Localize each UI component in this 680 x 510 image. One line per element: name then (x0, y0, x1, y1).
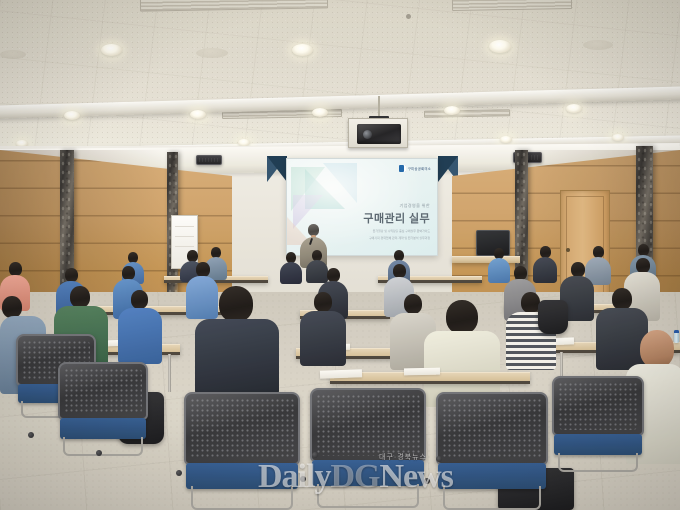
slide-eyebrow: 기업경영을 위한 (363, 203, 430, 209)
slide-body-line-2: 구매기획·협력업체 관리·계약 및 원가분석 실무과정 (363, 236, 430, 240)
chair-legs (558, 453, 639, 472)
attendee-head (612, 288, 632, 310)
downlight (292, 44, 313, 56)
chair-empty[interactable] (184, 392, 300, 510)
chair-legs (317, 484, 419, 508)
chair-empty[interactable] (58, 362, 148, 456)
table-edge (330, 381, 530, 384)
attendee (533, 246, 557, 282)
attendee-foreground (424, 300, 500, 404)
ceiling-projector (348, 118, 408, 148)
downlight (64, 111, 80, 120)
chair-back (310, 388, 426, 462)
attendee-head (327, 268, 340, 282)
attendee-head (404, 294, 422, 314)
attendee-head (70, 286, 90, 308)
chair-caster (28, 432, 34, 438)
attendee-head (393, 264, 406, 278)
slide-title: 구매관리 실무 (363, 210, 430, 226)
attendee-head (219, 286, 253, 322)
chair-occupied[interactable] (552, 376, 644, 472)
deco-triangle-left-dark (267, 156, 287, 182)
whiteboard-line (175, 236, 194, 237)
attendee-head (514, 266, 527, 280)
chair-seat (438, 463, 546, 489)
chair-legs (63, 437, 142, 456)
chair-caster (300, 476, 306, 482)
downlight (190, 110, 206, 119)
downlight (500, 136, 512, 143)
seminar-room-photo: 구미상공회의소 기업경영을 위한 구매관리 실무 원가절감 및 수익창출 중심 … (0, 0, 680, 510)
slide-logo: 구미상공회의소 (399, 165, 431, 172)
attendee (280, 252, 302, 282)
chair-legs (443, 486, 542, 510)
chair-caster (312, 452, 318, 458)
attendee-head (131, 290, 148, 309)
downlight (566, 104, 582, 113)
ceiling-vent-4 (424, 109, 510, 117)
downlight (489, 40, 511, 53)
slide-body-line-1: 원가절감 및 수익창출 중심 구매실무 완벽가이드 (363, 229, 430, 233)
downlight (312, 108, 328, 117)
downlight (101, 44, 122, 56)
attendee-torso (195, 319, 279, 395)
attendee-torso (118, 308, 162, 364)
attendee-head (122, 266, 135, 280)
attendee (118, 290, 162, 362)
ceiling-sprinkler (406, 14, 411, 19)
downlight (238, 139, 250, 146)
attendee-head (196, 262, 210, 277)
chair-seat (60, 418, 146, 439)
attendee-head (314, 292, 332, 312)
chair-caster (424, 478, 430, 484)
handout-paper (404, 368, 440, 376)
chair-legs (191, 486, 293, 510)
backpack (538, 300, 568, 334)
slide-logo-text: 구미상공회의소 (408, 166, 431, 171)
whiteboard-line (175, 226, 194, 227)
handout-paper (320, 369, 362, 378)
ceiling-dimple (196, 48, 228, 58)
ceiling-grain (0, 0, 680, 150)
chair-back (184, 392, 300, 465)
ceiling-dimple (0, 50, 26, 59)
attendee-head (640, 330, 674, 368)
chair-empty[interactable] (436, 392, 548, 510)
ceiling (0, 0, 680, 150)
slide-text-block: 기업경영을 위한 구매관리 실무 원가절감 및 수익창출 중심 구매실무 완벽가… (363, 203, 430, 241)
attendee-head (636, 258, 650, 273)
chair-back (436, 392, 548, 465)
chair-back (552, 376, 644, 436)
attendee-head (9, 262, 22, 276)
attendee-torso (280, 262, 302, 284)
attendee (300, 292, 346, 364)
attendee-torso (533, 257, 557, 283)
attendee-foreground (195, 286, 279, 392)
attendee-head (2, 296, 22, 318)
whiteboard-line (175, 246, 194, 247)
attendee-head (446, 300, 478, 334)
projector-lens-icon (363, 130, 372, 139)
chamber-logo-icon (399, 165, 406, 172)
chair-caster (436, 456, 442, 462)
chair-seat (312, 460, 423, 486)
downlight (612, 134, 624, 141)
downlight (444, 106, 460, 115)
chair-back (58, 362, 148, 420)
attendee-torso (300, 311, 346, 366)
table-leg (168, 354, 171, 392)
chair-seat (186, 463, 297, 489)
chair-caster (96, 450, 102, 456)
chair-caster (176, 470, 182, 476)
ceiling-dimple (583, 40, 613, 50)
chair-empty[interactable] (310, 388, 426, 508)
attendee-head (65, 268, 78, 282)
door-handle-icon[interactable] (566, 248, 570, 252)
chair-seat (554, 434, 642, 455)
attendee-head (571, 262, 585, 277)
